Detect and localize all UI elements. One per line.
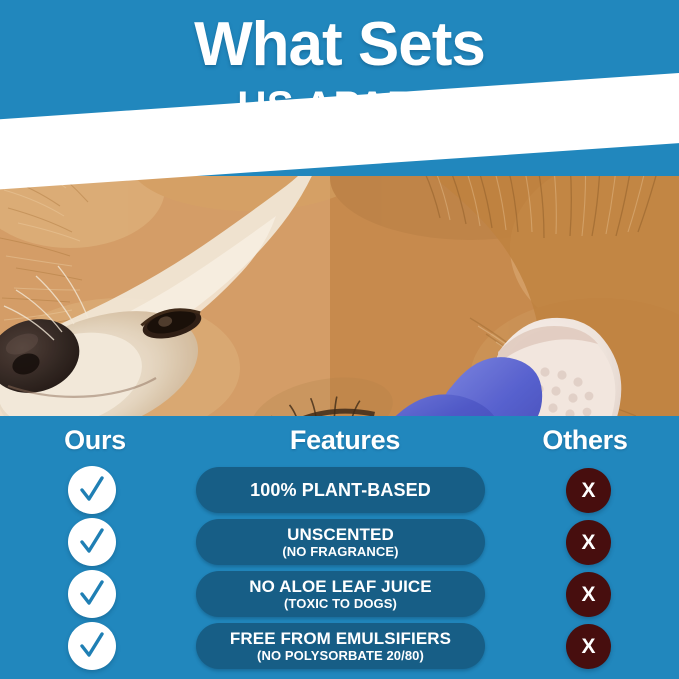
feature-sublabel: (NO POLYSORBATE 20/80) (257, 648, 424, 663)
check-icon (68, 466, 116, 514)
cross-glyph: X (581, 480, 595, 501)
check-icon (68, 518, 116, 566)
check-icon (68, 622, 116, 670)
table-row: FREE FROM EMULSIFIERS (NO POLYSORBATE 20… (0, 620, 679, 672)
table-row: 100% PLANT-BASED X (0, 464, 679, 516)
cross-glyph: X (581, 584, 595, 605)
comparison-table: Ours Features Others 100% PLANT-BASED X (0, 416, 679, 679)
check-icon (68, 570, 116, 618)
promo-graphic: What Sets US APART (0, 0, 679, 679)
check-glyph (79, 580, 105, 608)
cross-icon: X (566, 572, 611, 617)
page-title: What Sets (0, 12, 679, 78)
column-header-features: Features (190, 424, 500, 456)
feature-label: FREE FROM EMULSIFIERS (230, 629, 451, 648)
check-glyph (79, 528, 105, 556)
cross-glyph: X (581, 636, 595, 657)
check-glyph (79, 632, 105, 660)
cross-icon: X (566, 520, 611, 565)
check-glyph (79, 476, 105, 504)
cross-icon: X (566, 624, 611, 669)
feature-pill: 100% PLANT-BASED (196, 467, 485, 513)
feature-pill: UNSCENTED (NO FRAGRANCE) (196, 519, 485, 565)
feature-label: NO ALOE LEAF JUICE (249, 577, 432, 596)
column-header-ours: Ours (20, 424, 170, 456)
feature-label: UNSCENTED (287, 525, 394, 544)
table-row: UNSCENTED (NO FRAGRANCE) X (0, 516, 679, 568)
cross-icon: X (566, 468, 611, 513)
table-column-headers: Ours Features Others (0, 424, 679, 458)
feature-label: 100% PLANT-BASED (250, 481, 431, 500)
feature-sublabel: (TOXIC TO DOGS) (284, 596, 397, 611)
feature-pill: NO ALOE LEAF JUICE (TOXIC TO DOGS) (196, 571, 485, 617)
feature-sublabel: (NO FRAGRANCE) (282, 544, 398, 559)
column-header-others: Others (510, 424, 660, 456)
feature-pill: FREE FROM EMULSIFIERS (NO POLYSORBATE 20… (196, 623, 485, 669)
cross-glyph: X (581, 532, 595, 553)
table-row: NO ALOE LEAF JUICE (TOXIC TO DOGS) X (0, 568, 679, 620)
